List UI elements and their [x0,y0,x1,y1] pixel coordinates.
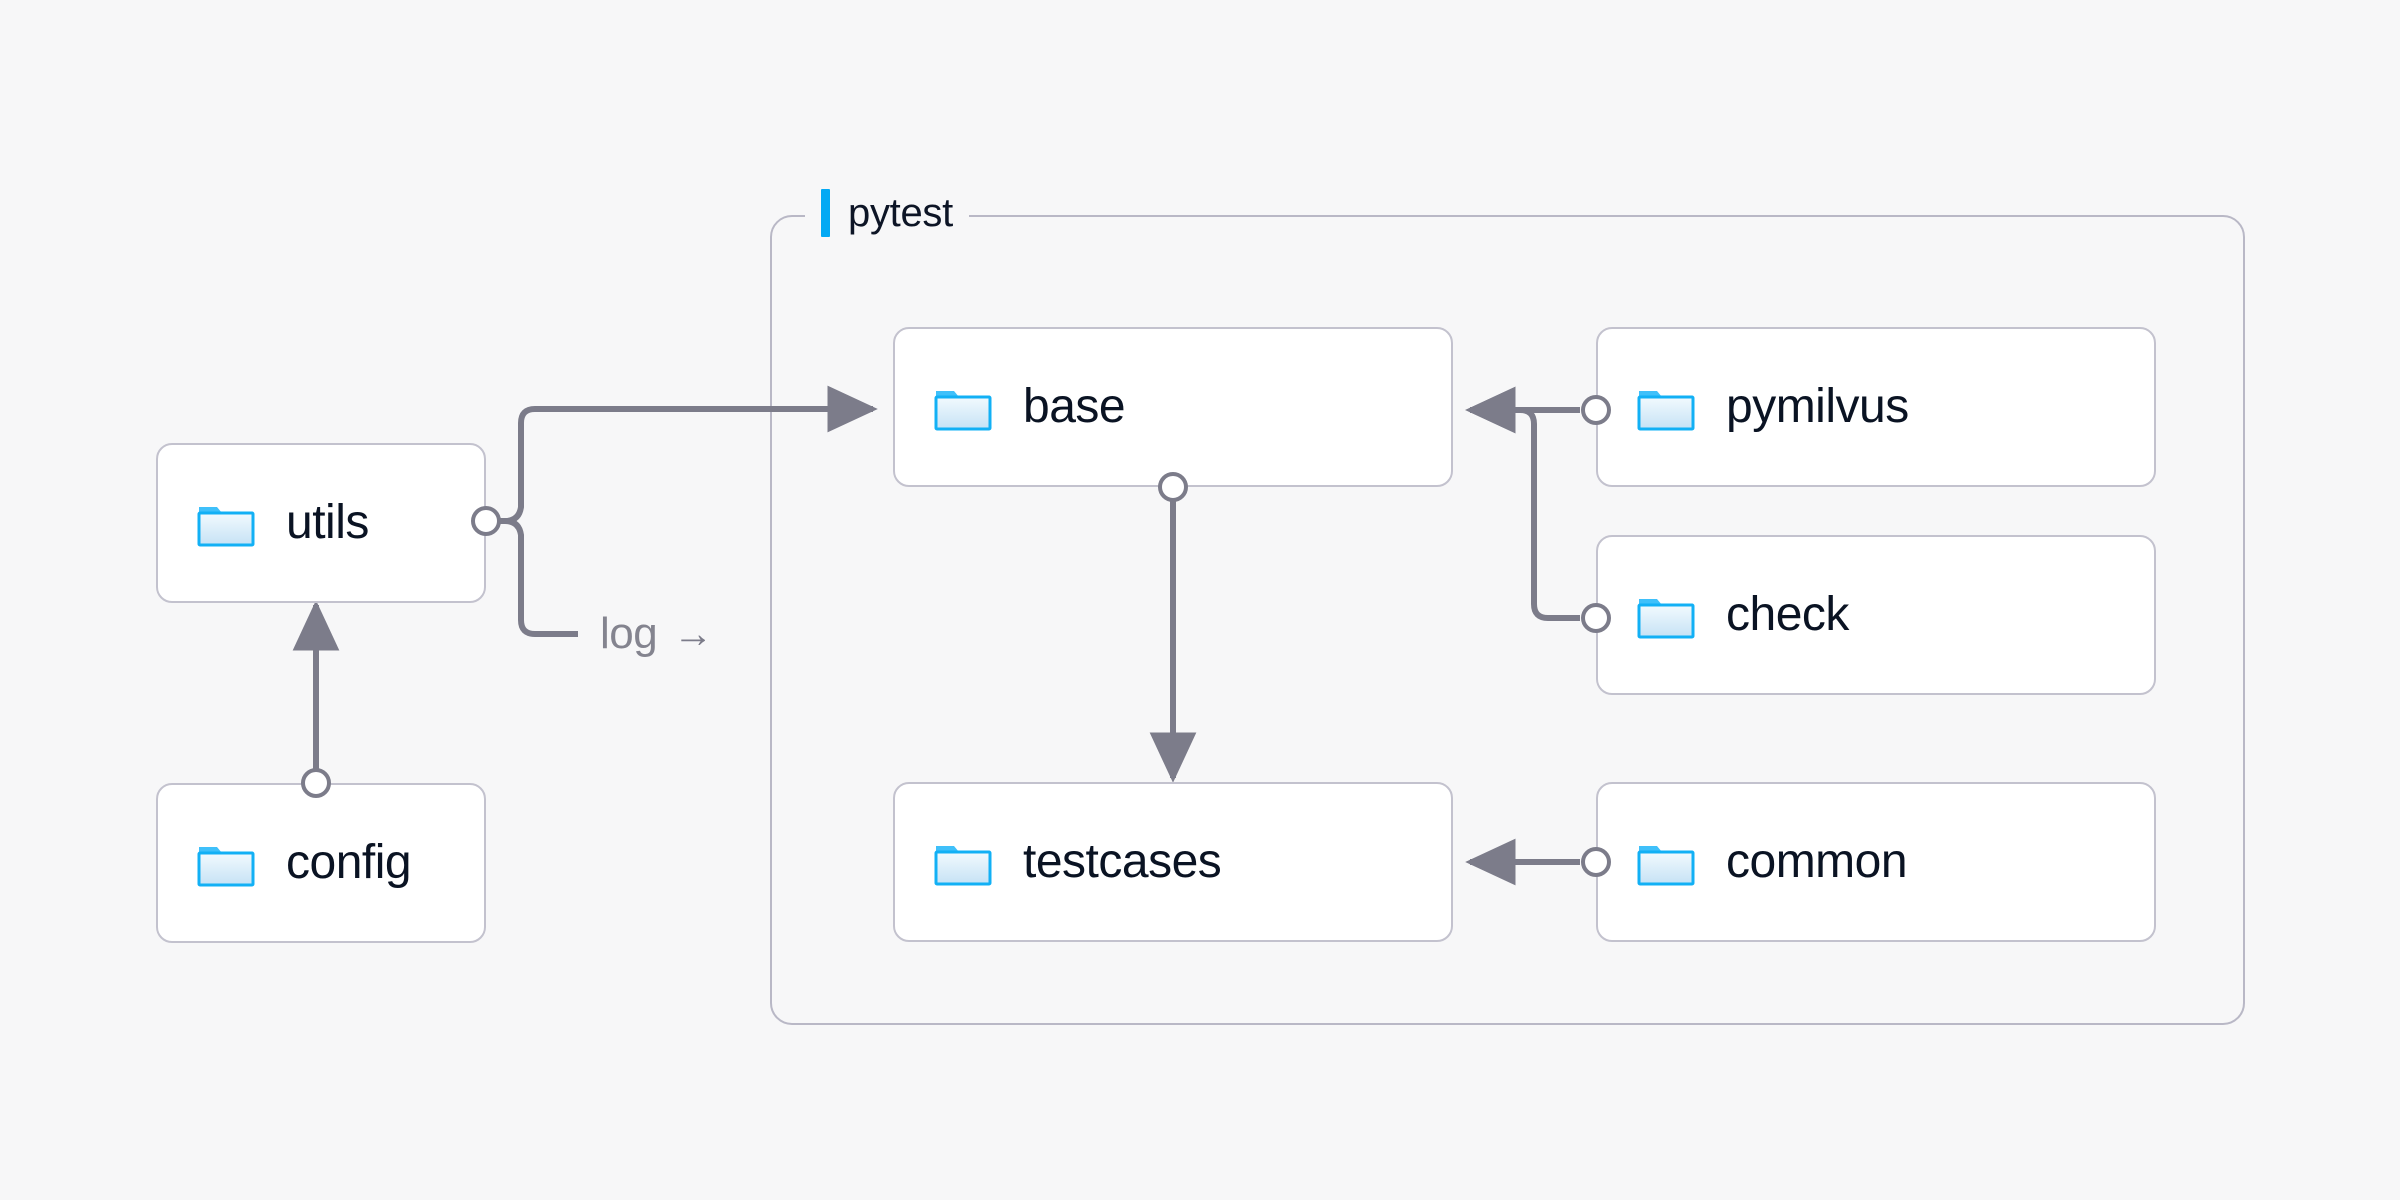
node-label-config: config [286,839,411,887]
node-common[interactable]: common [1596,782,2156,942]
folder-icon [1636,836,1696,888]
node-label-utils: utils [286,499,369,547]
edge-utils-to-log [485,521,578,634]
node-label-check: check [1726,591,1849,639]
port-utils-right[interactable] [471,506,501,536]
node-check[interactable]: check [1596,535,2156,695]
accent-bar-icon [821,189,830,237]
node-utils[interactable]: utils [156,443,486,603]
node-pymilvus[interactable]: pymilvus [1596,327,2156,487]
node-label-pymilvus: pymilvus [1726,383,1909,431]
folder-icon [933,381,993,433]
folder-icon [196,837,256,889]
node-label-common: common [1726,838,1907,886]
diagram-canvas: pytest log → [0,0,2400,1200]
port-config-top[interactable] [301,768,331,798]
folder-icon [933,836,993,888]
edge-label-log-text: log [600,612,657,656]
edge-label-log: log → [600,612,713,656]
port-check-left[interactable] [1581,603,1611,633]
port-base-bottom[interactable] [1158,472,1188,502]
port-common-left[interactable] [1581,847,1611,877]
folder-icon [1636,381,1696,433]
arrow-right-icon: → [673,614,713,654]
folder-icon [1636,589,1696,641]
node-base[interactable]: base [893,327,1453,487]
node-config[interactable]: config [156,783,486,943]
folder-icon [196,497,256,549]
node-label-testcases: testcases [1023,838,1221,886]
port-pymilvus-left[interactable] [1581,395,1611,425]
group-label-pytest: pytest [805,185,969,241]
node-testcases[interactable]: testcases [893,782,1453,942]
node-label-base: base [1023,383,1125,431]
group-title: pytest [848,193,953,233]
